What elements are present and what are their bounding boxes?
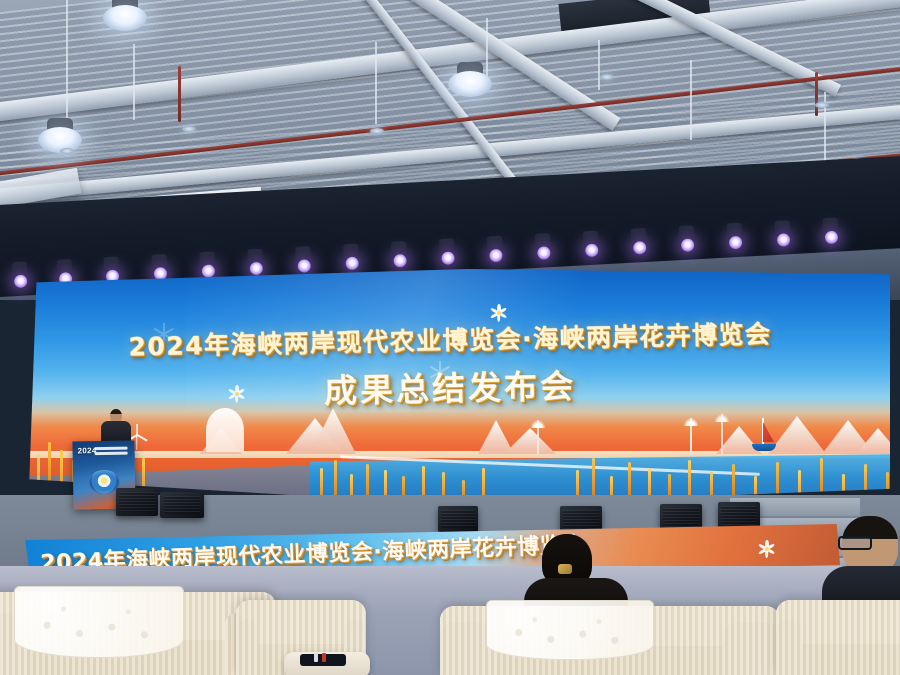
eyeglasses [838,536,872,550]
hair-clip [558,564,572,574]
disc-light [182,126,196,132]
moving-head-stage-light [582,231,600,258]
hanger-rod [375,42,377,124]
light-glow [103,5,147,31]
lace-doily [14,586,184,658]
podium-text-line [95,452,128,456]
disc-light [815,102,829,108]
palm-tree [682,418,700,454]
sprinkler-drop [815,72,818,116]
hanger-rod [598,40,600,90]
moving-head-stage-light [11,261,29,288]
light-glow [448,71,492,97]
disc-light [600,74,614,80]
lace-doily [486,600,654,660]
moving-head-stage-light [246,249,264,276]
podium-text-line [95,447,128,451]
hanger-rod [66,0,68,118]
moving-head-stage-light [678,225,696,252]
palm-tree [530,420,546,454]
stage-monitor-speaker [160,492,204,518]
disc-light [370,128,384,134]
moving-head-stage-light [390,241,408,268]
high-bay-light [445,62,495,102]
moving-head-stage-light [342,243,360,270]
red-cup [322,653,326,662]
hanger-rod [690,60,692,140]
high-bay-light [100,0,150,36]
drink-tray [300,654,346,666]
moving-head-stage-light [821,218,839,245]
moving-head-stage-light [630,228,648,255]
sofa-arm [236,619,258,675]
moving-head-stage-light [438,238,456,265]
moving-head-stage-light [726,223,744,250]
moving-head-stage-light [294,246,312,273]
moving-head-stage-light [534,233,552,260]
palm-tree [716,414,728,454]
stage-monitor-speaker [438,506,478,532]
moving-head-stage-light [198,251,216,278]
sprinkler-drop [178,66,181,122]
moving-head-stage-light [102,256,120,283]
sofa-arm [776,619,802,675]
mountain-shape [478,420,514,454]
moving-head-stage-light [486,236,504,263]
hanger-rod [133,44,135,120]
moving-head-stage-light [773,220,791,247]
disc-light [60,148,74,154]
water-cup [314,653,318,662]
sofa-arm [722,623,780,675]
jasmine-flower-icon [758,540,776,558]
event-stage-photo: 2024年海峡两岸现代农业博览会·海峡两岸花卉博览会 成果总结发布会 2024 … [0,0,900,675]
stage-monitor-speaker [116,488,158,516]
moving-head-stage-light [150,254,168,281]
cream-corduroy-armchair[interactable] [776,600,900,675]
